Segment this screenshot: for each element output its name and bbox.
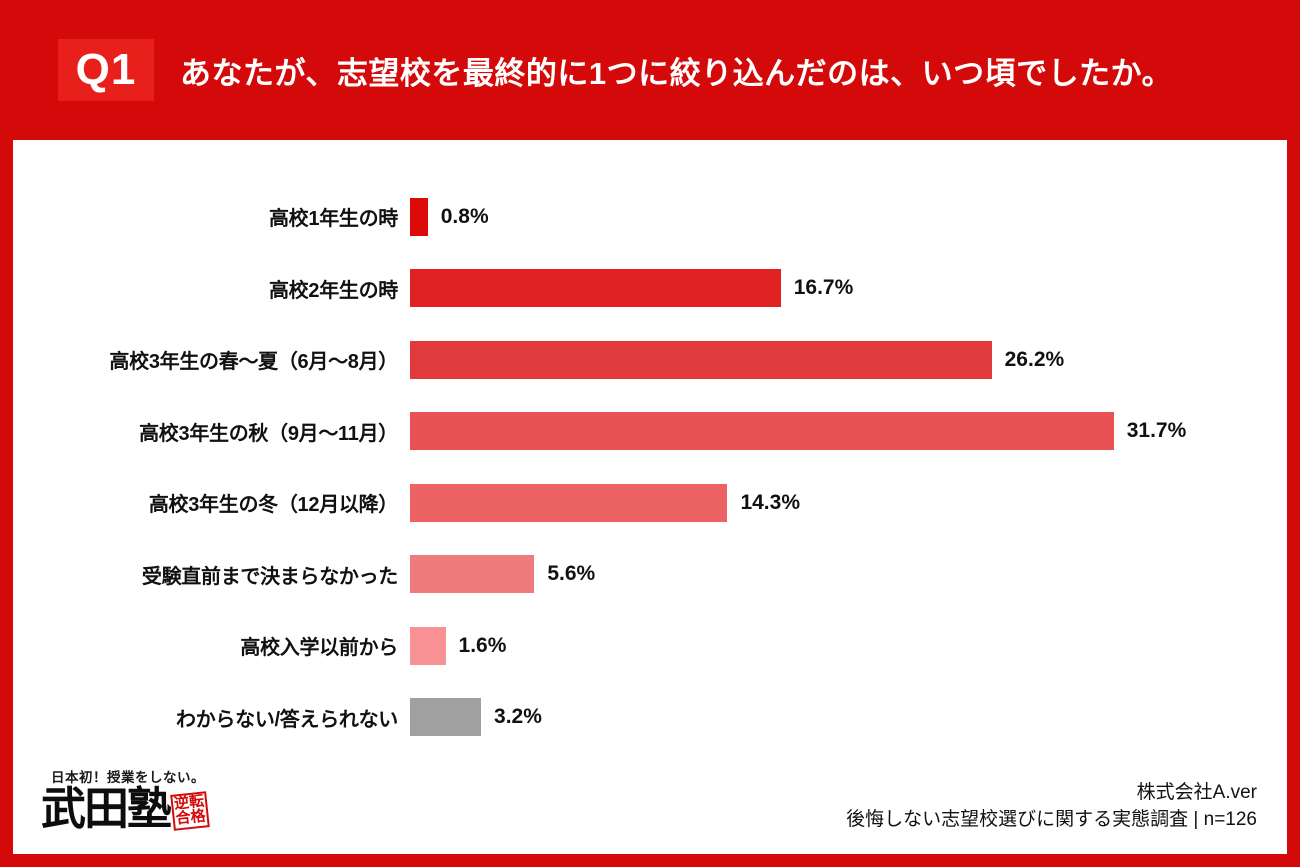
question-number-label: Q1 [76,48,137,92]
bar-value-label: 16.7% [794,276,854,300]
bar [410,269,781,307]
bar [410,198,428,236]
chart-row: わからない/答えられない3.2% [13,682,1287,754]
bar-category-label: 高校2年生の時 [13,274,410,303]
chart-row: 受験直前まで決まらなかった5.6% [13,539,1287,611]
bar-category-label: 高校3年生の春〜夏（6月〜8月） [13,345,410,374]
footer-credits: 株式会社A.ver 後悔しない志望校選びに関する実態調査 | n=126 [846,779,1257,834]
chart-card: 高校1年生の時0.8%高校2年生の時16.7%高校3年生の春〜夏（6月〜8月）2… [13,140,1287,854]
bar-value-label: 31.7% [1127,419,1187,443]
bar [410,484,727,522]
bar-value-label: 3.2% [494,705,542,729]
bar-container: 5.6% [410,555,1287,593]
bar-category-label: 高校3年生の秋（9月〜11月） [13,417,410,446]
bar-category-label: わからない/答えられない [13,703,410,732]
bar [410,698,481,736]
bar-category-label: 高校3年生の冬（12月以降） [13,488,410,517]
bar [410,627,446,665]
survey-infographic: Q1 あなたが、志望校を最終的に1つに絞り込んだのは、いつ頃でしたか。 高校1年… [0,0,1300,867]
bar-container: 31.7% [410,412,1287,450]
chart-row: 高校3年生の冬（12月以降）14.3% [13,467,1287,539]
chart-row: 高校2年生の時16.7% [13,253,1287,325]
bar-container: 14.3% [410,484,1287,522]
bar-container: 1.6% [410,627,1287,665]
chart-row: 高校入学以前から1.6% [13,610,1287,682]
header-band: Q1 あなたが、志望校を最終的に1つに絞り込んだのは、いつ頃でしたか。 [0,0,1300,140]
chart-row: 高校1年生の時0.8% [13,181,1287,253]
logo-seal-icon: 逆転 合格 [170,791,210,831]
bar [410,341,992,379]
bar-category-label: 高校入学以前から [13,631,410,660]
bar-value-label: 14.3% [740,491,800,515]
bar-container: 16.7% [410,269,1287,307]
bar [410,412,1114,450]
bar-value-label: 26.2% [1005,348,1065,372]
logo-wordmark: 武田塾 [41,787,170,832]
credits-company: 株式会社A.ver [846,779,1257,807]
bar-value-label: 1.6% [459,634,507,658]
bar-container: 26.2% [410,341,1287,379]
bar-category-label: 高校1年生の時 [13,202,410,231]
credits-survey: 後悔しない志望校選びに関する実態調査 | n=126 [846,806,1257,834]
bar-category-label: 受験直前まで決まらなかった [13,560,410,589]
question-number-badge: Q1 [58,39,154,101]
logo-wordmark-row: 武田塾 逆転 合格 [41,787,271,832]
chart-row: 高校3年生の春〜夏（6月〜8月）26.2% [13,324,1287,396]
chart-row: 高校3年生の秋（9月〜11月）31.7% [13,396,1287,468]
logo-seal-line2: 合格 [175,809,206,827]
page-title: あなたが、志望校を最終的に1つに絞り込んだのは、いつ頃でしたか。 [180,48,1173,93]
bar-value-label: 0.8% [441,205,489,229]
bar-value-label: 5.6% [547,562,595,586]
brand-logo: 日本初！授業をしない。 武田塾 逆転 合格 [41,766,271,832]
bar-container: 0.8% [410,198,1287,236]
bar-container: 3.2% [410,698,1287,736]
logo-tagline: 日本初！授業をしない。 [51,766,271,786]
bar-chart: 高校1年生の時0.8%高校2年生の時16.7%高校3年生の春〜夏（6月〜8月）2… [13,181,1287,753]
bar [410,555,534,593]
